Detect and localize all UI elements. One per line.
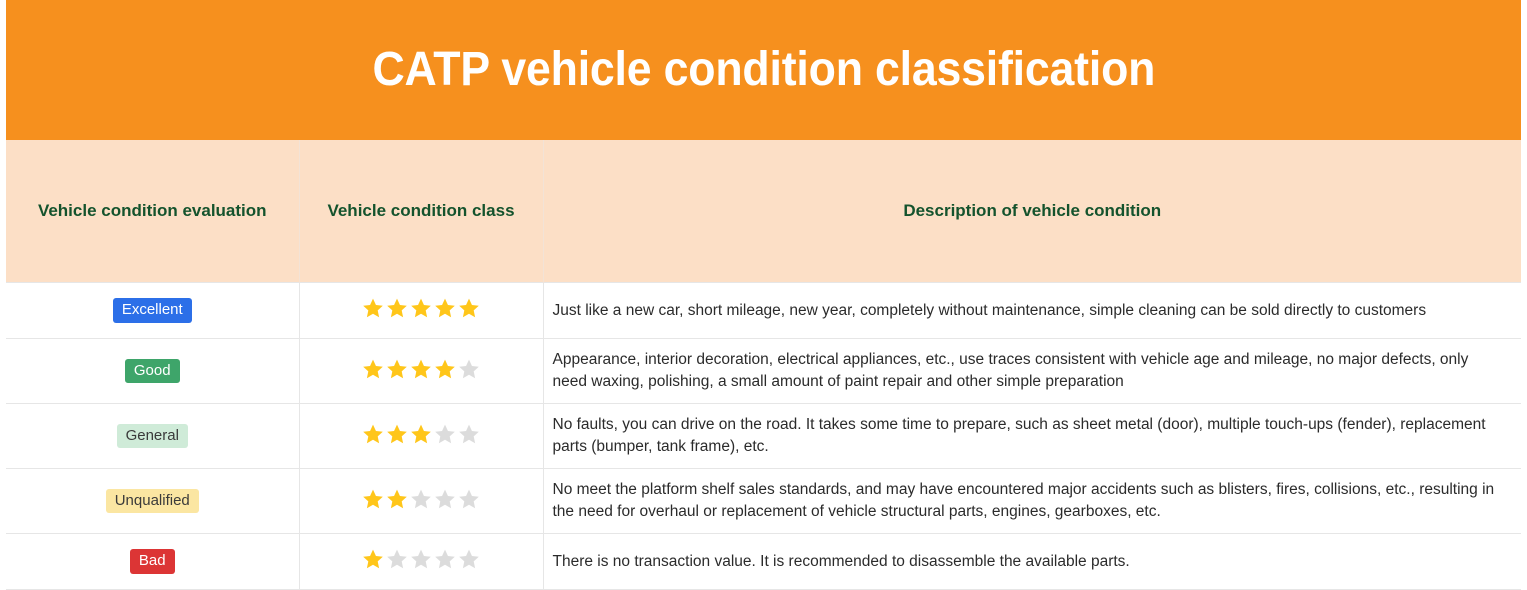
star-icon xyxy=(385,357,409,381)
condition-badge: General xyxy=(117,424,188,448)
star-icon xyxy=(433,422,457,446)
condition-class-cell xyxy=(299,283,543,339)
table-row: GeneralNo faults, you can drive on the r… xyxy=(6,404,1521,469)
star-icon xyxy=(457,296,481,320)
description-cell: No faults, you can drive on the road. It… xyxy=(543,404,1521,469)
condition-class-cell xyxy=(299,339,543,404)
star-icon xyxy=(385,487,409,511)
star-rating xyxy=(361,547,481,571)
condition-badge: Unqualified xyxy=(106,489,199,513)
star-icon xyxy=(457,422,481,446)
description-cell: There is no transaction value. It is rec… xyxy=(543,534,1521,590)
condition-badge: Bad xyxy=(130,549,175,573)
star-rating xyxy=(361,296,481,320)
star-icon xyxy=(385,296,409,320)
star-icon xyxy=(433,547,457,571)
evaluation-cell: Good xyxy=(6,339,299,404)
star-icon xyxy=(433,487,457,511)
evaluation-cell: Excellent xyxy=(6,283,299,339)
star-icon xyxy=(361,357,385,381)
column-header-evaluation: Vehicle condition evaluation xyxy=(6,140,299,283)
evaluation-cell: General xyxy=(6,404,299,469)
condition-class-cell xyxy=(299,534,543,590)
table-row: ExcellentJust like a new car, short mile… xyxy=(6,283,1521,339)
description-cell: Appearance, interior decoration, electri… xyxy=(543,339,1521,404)
table-row: GoodAppearance, interior decoration, ele… xyxy=(6,339,1521,404)
condition-badge: Excellent xyxy=(113,298,192,322)
table-row: BadThere is no transaction value. It is … xyxy=(6,534,1521,590)
star-icon xyxy=(457,357,481,381)
column-header-class: Vehicle condition class xyxy=(299,140,543,283)
star-icon xyxy=(385,547,409,571)
star-icon xyxy=(409,487,433,511)
star-icon xyxy=(457,487,481,511)
star-rating xyxy=(361,487,481,511)
star-rating xyxy=(361,422,481,446)
description-cell: No meet the platform shelf sales standar… xyxy=(543,469,1521,534)
table-header: Vehicle condition evaluation Vehicle con… xyxy=(6,140,1521,283)
evaluation-cell: Bad xyxy=(6,534,299,590)
star-icon xyxy=(361,547,385,571)
star-icon xyxy=(361,296,385,320)
star-icon xyxy=(433,296,457,320)
table-row: UnqualifiedNo meet the platform shelf sa… xyxy=(6,469,1521,534)
star-icon xyxy=(361,422,385,446)
star-icon xyxy=(409,296,433,320)
condition-badge: Good xyxy=(125,359,180,383)
title-banner: CATP vehicle condition classification xyxy=(6,0,1521,140)
star-icon xyxy=(361,487,385,511)
description-cell: Just like a new car, short mileage, new … xyxy=(543,283,1521,339)
page-title: CATP vehicle condition classification xyxy=(372,45,1155,95)
vehicle-condition-infographic: CATP vehicle condition classification Ve… xyxy=(0,0,1527,579)
star-icon xyxy=(409,357,433,381)
star-rating xyxy=(361,357,481,381)
vehicle-condition-table: Vehicle condition evaluation Vehicle con… xyxy=(6,140,1521,590)
condition-class-cell xyxy=(299,469,543,534)
star-icon xyxy=(433,357,457,381)
star-icon xyxy=(385,422,409,446)
star-icon xyxy=(409,547,433,571)
table-body: ExcellentJust like a new car, short mile… xyxy=(6,283,1521,590)
column-header-description: Description of vehicle condition xyxy=(543,140,1521,283)
table-header-row: Vehicle condition evaluation Vehicle con… xyxy=(6,140,1521,283)
evaluation-cell: Unqualified xyxy=(6,469,299,534)
star-icon xyxy=(457,547,481,571)
condition-class-cell xyxy=(299,404,543,469)
star-icon xyxy=(409,422,433,446)
